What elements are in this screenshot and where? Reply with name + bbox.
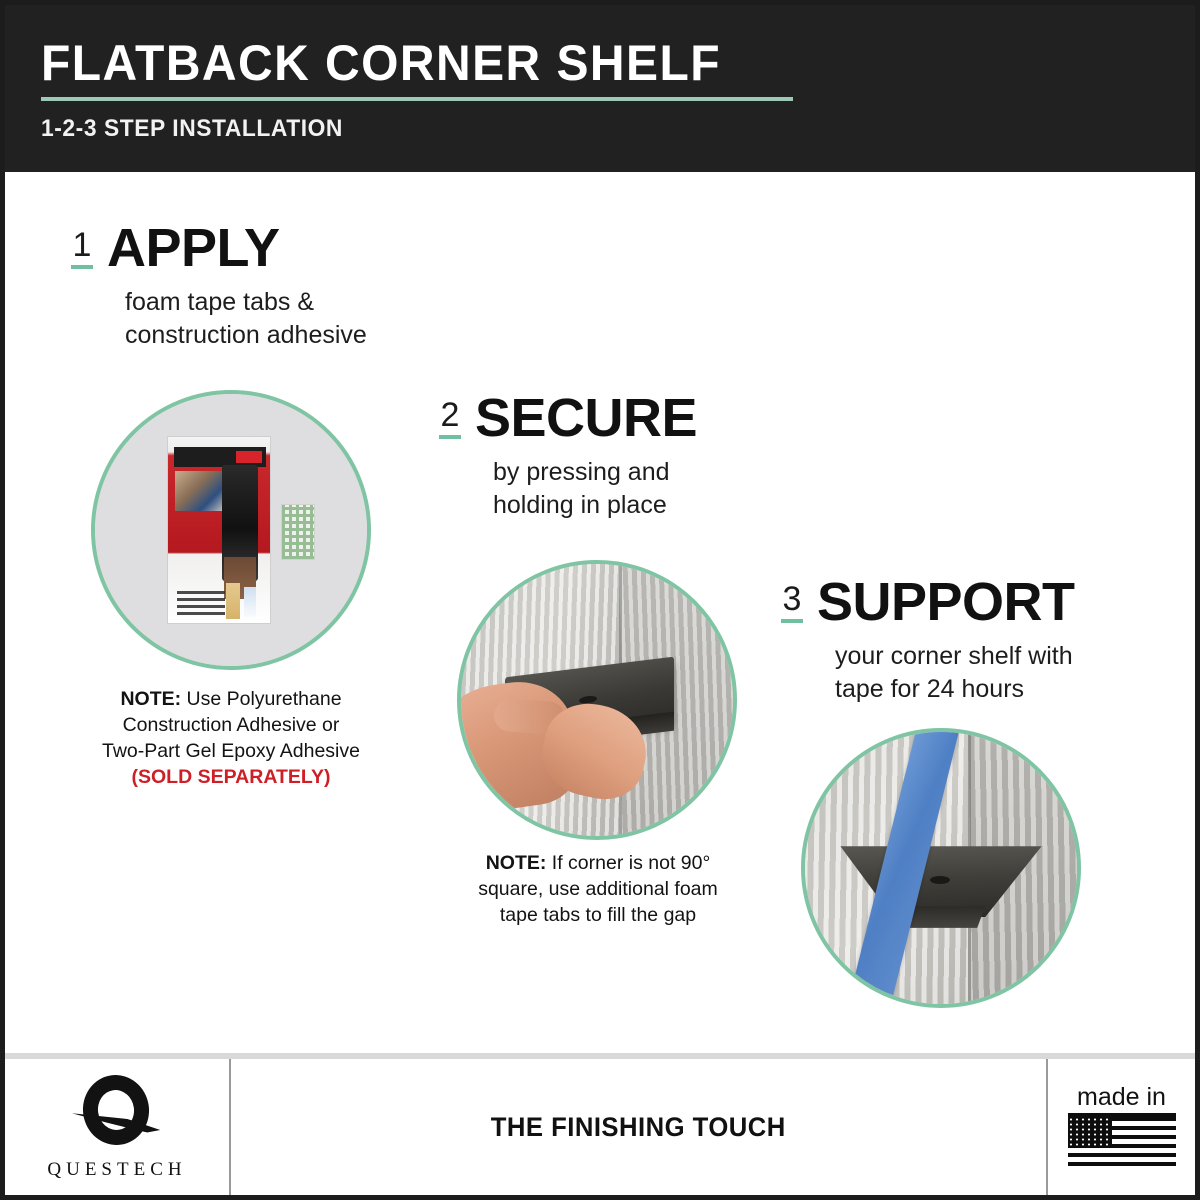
step-number-dash-icon (439, 435, 461, 439)
made-in-label: made in (1077, 1084, 1166, 1110)
step-2-description-line-1: by pressing and (493, 456, 697, 489)
step-2-number-wrap: 2 (439, 390, 461, 439)
step-number-dash-icon (71, 265, 93, 269)
step-2-title: SECURE (475, 390, 697, 446)
title-underline-accent (41, 97, 793, 101)
questech-q-logo-icon (71, 1073, 163, 1153)
step-1-note-line-3: Two-Part Gel Epoxy Adhesive (63, 738, 399, 764)
footer-brand-section: QUESTECH (5, 1059, 231, 1195)
step-1-heading: 1 APPLY (71, 220, 367, 276)
step-1-note-text-1: Use Polyurethane (181, 688, 341, 710)
step-1-note-warning: (SOLD SEPARATELY) (63, 764, 399, 790)
step-1-number-wrap: 1 (71, 220, 93, 269)
step-1-number: 1 (73, 228, 92, 262)
step-2-description-line-2: holding in place (493, 489, 697, 522)
step-2-note-line-2: square, use additional foam (443, 876, 753, 902)
step-2: 2 SECURE by pressing and holding in plac… (439, 390, 697, 522)
note-label: NOTE: (486, 852, 547, 874)
step-1-description: foam tape tabs & construction adhesive (125, 286, 367, 352)
package-text-block (177, 591, 225, 615)
package-photo-inset (175, 471, 227, 511)
step-3-number-wrap: 3 (781, 574, 803, 623)
step-1-note-line-1: NOTE: Use Polyurethane (63, 686, 399, 712)
step-1-note-line-2: Construction Adhesive or (63, 712, 399, 738)
step-3-heading: 3 SUPPORT (781, 574, 1075, 630)
step-2-note-line-3: tape tabs to fill the gap (443, 902, 753, 928)
step-2-photo (457, 560, 737, 840)
logo-ring-shape (78, 1071, 153, 1150)
step-2-note-line-1: NOTE: If corner is not 90° (443, 850, 753, 876)
page-subtitle: 1-2-3 STEP INSTALLATION (41, 115, 1137, 143)
step-2-description: by pressing and holding in place (493, 456, 697, 522)
step-2-note: NOTE: If corner is not 90° square, use a… (443, 850, 753, 928)
steps-area: 1 APPLY foam tape tabs & construction ad… (5, 172, 1195, 1060)
step-2-number: 2 (441, 398, 460, 432)
tagline: THE FINISHING TOUCH (491, 1112, 786, 1143)
adhesive-nozzle-clear-icon (244, 587, 256, 621)
step-3-title: SUPPORT (817, 574, 1075, 630)
flag-canton-stars (1068, 1117, 1112, 1148)
package-header-band (174, 447, 266, 467)
page-title: FLATBACK CORNER SHELF (41, 35, 1149, 91)
step-1-description-line-1: foam tape tabs & (125, 286, 367, 319)
step-1: 1 APPLY foam tape tabs & construction ad… (71, 220, 367, 352)
step-1-description-line-2: construction adhesive (125, 319, 367, 352)
note-label: NOTE: (120, 688, 181, 710)
infographic-page: FLATBACK CORNER SHELF 1-2-3 STEP INSTALL… (0, 0, 1200, 1200)
step-3-number: 3 (783, 582, 802, 616)
step-3-description-line-1: your corner shelf with (835, 640, 1075, 673)
header-banner: FLATBACK CORNER SHELF 1-2-3 STEP INSTALL… (5, 5, 1195, 172)
footer-madein-section: made in (1048, 1059, 1195, 1195)
usa-flag-icon (1068, 1113, 1176, 1171)
step-1-title: APPLY (107, 220, 280, 276)
foam-tape-tab-icon (281, 504, 315, 560)
step-1-note: NOTE: Use Polyurethane Construction Adhe… (63, 686, 399, 790)
step-3: 3 SUPPORT your corner shelf with tape fo… (781, 574, 1075, 706)
footer-tagline-section: THE FINISHING TOUCH (231, 1059, 1048, 1195)
step-3-photo (801, 728, 1081, 1008)
step-number-dash-icon (781, 619, 803, 623)
step-1-photo (91, 390, 371, 670)
adhesive-package-icon (167, 436, 271, 624)
adhesive-nozzle-icon (226, 583, 240, 619)
step-2-note-text-1: If corner is not 90° (546, 852, 710, 874)
step-2-heading: 2 SECURE (439, 390, 697, 446)
step-3-description: your corner shelf with tape for 24 hours (835, 640, 1075, 706)
step-3-description-line-2: tape for 24 hours (835, 673, 1075, 706)
footer: QUESTECH THE FINISHING TOUCH made in (5, 1059, 1195, 1195)
brand-wordmark: QUESTECH (47, 1159, 186, 1181)
